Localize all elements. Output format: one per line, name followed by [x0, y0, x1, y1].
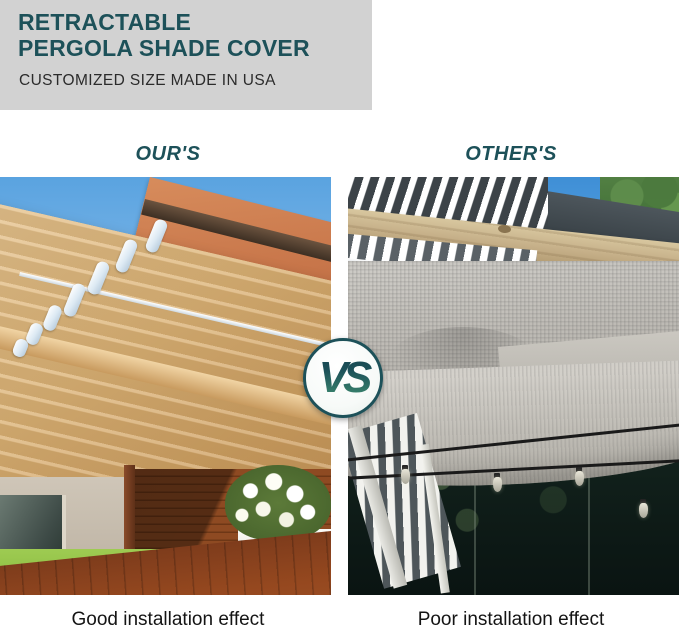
- header-banner: RETRACTABLE PERGOLA SHADE COVER CUSTOMIZ…: [0, 0, 372, 110]
- string-light-bulb: [575, 471, 584, 486]
- photo-panel-ours: [0, 177, 331, 595]
- caption-ours: Good installation effect: [0, 609, 336, 631]
- string-light-bulb: [401, 469, 410, 484]
- vs-badge-icon: VS: [303, 338, 383, 418]
- string-light-bulb: [639, 503, 648, 518]
- page-title: RETRACTABLE PERGOLA SHADE COVER: [18, 9, 310, 61]
- page-subtitle: CUSTOMIZED SIZE MADE IN USA: [19, 72, 276, 90]
- photo-panel-others: [348, 177, 679, 595]
- vs-badge-label: VS: [306, 341, 380, 415]
- column-label-ours: OUR'S: [0, 143, 336, 166]
- flowering-tree: [225, 465, 331, 541]
- column-label-others: OTHER'S: [343, 143, 679, 166]
- caption-others: Poor installation effect: [343, 609, 679, 631]
- string-light-bulb: [493, 477, 502, 492]
